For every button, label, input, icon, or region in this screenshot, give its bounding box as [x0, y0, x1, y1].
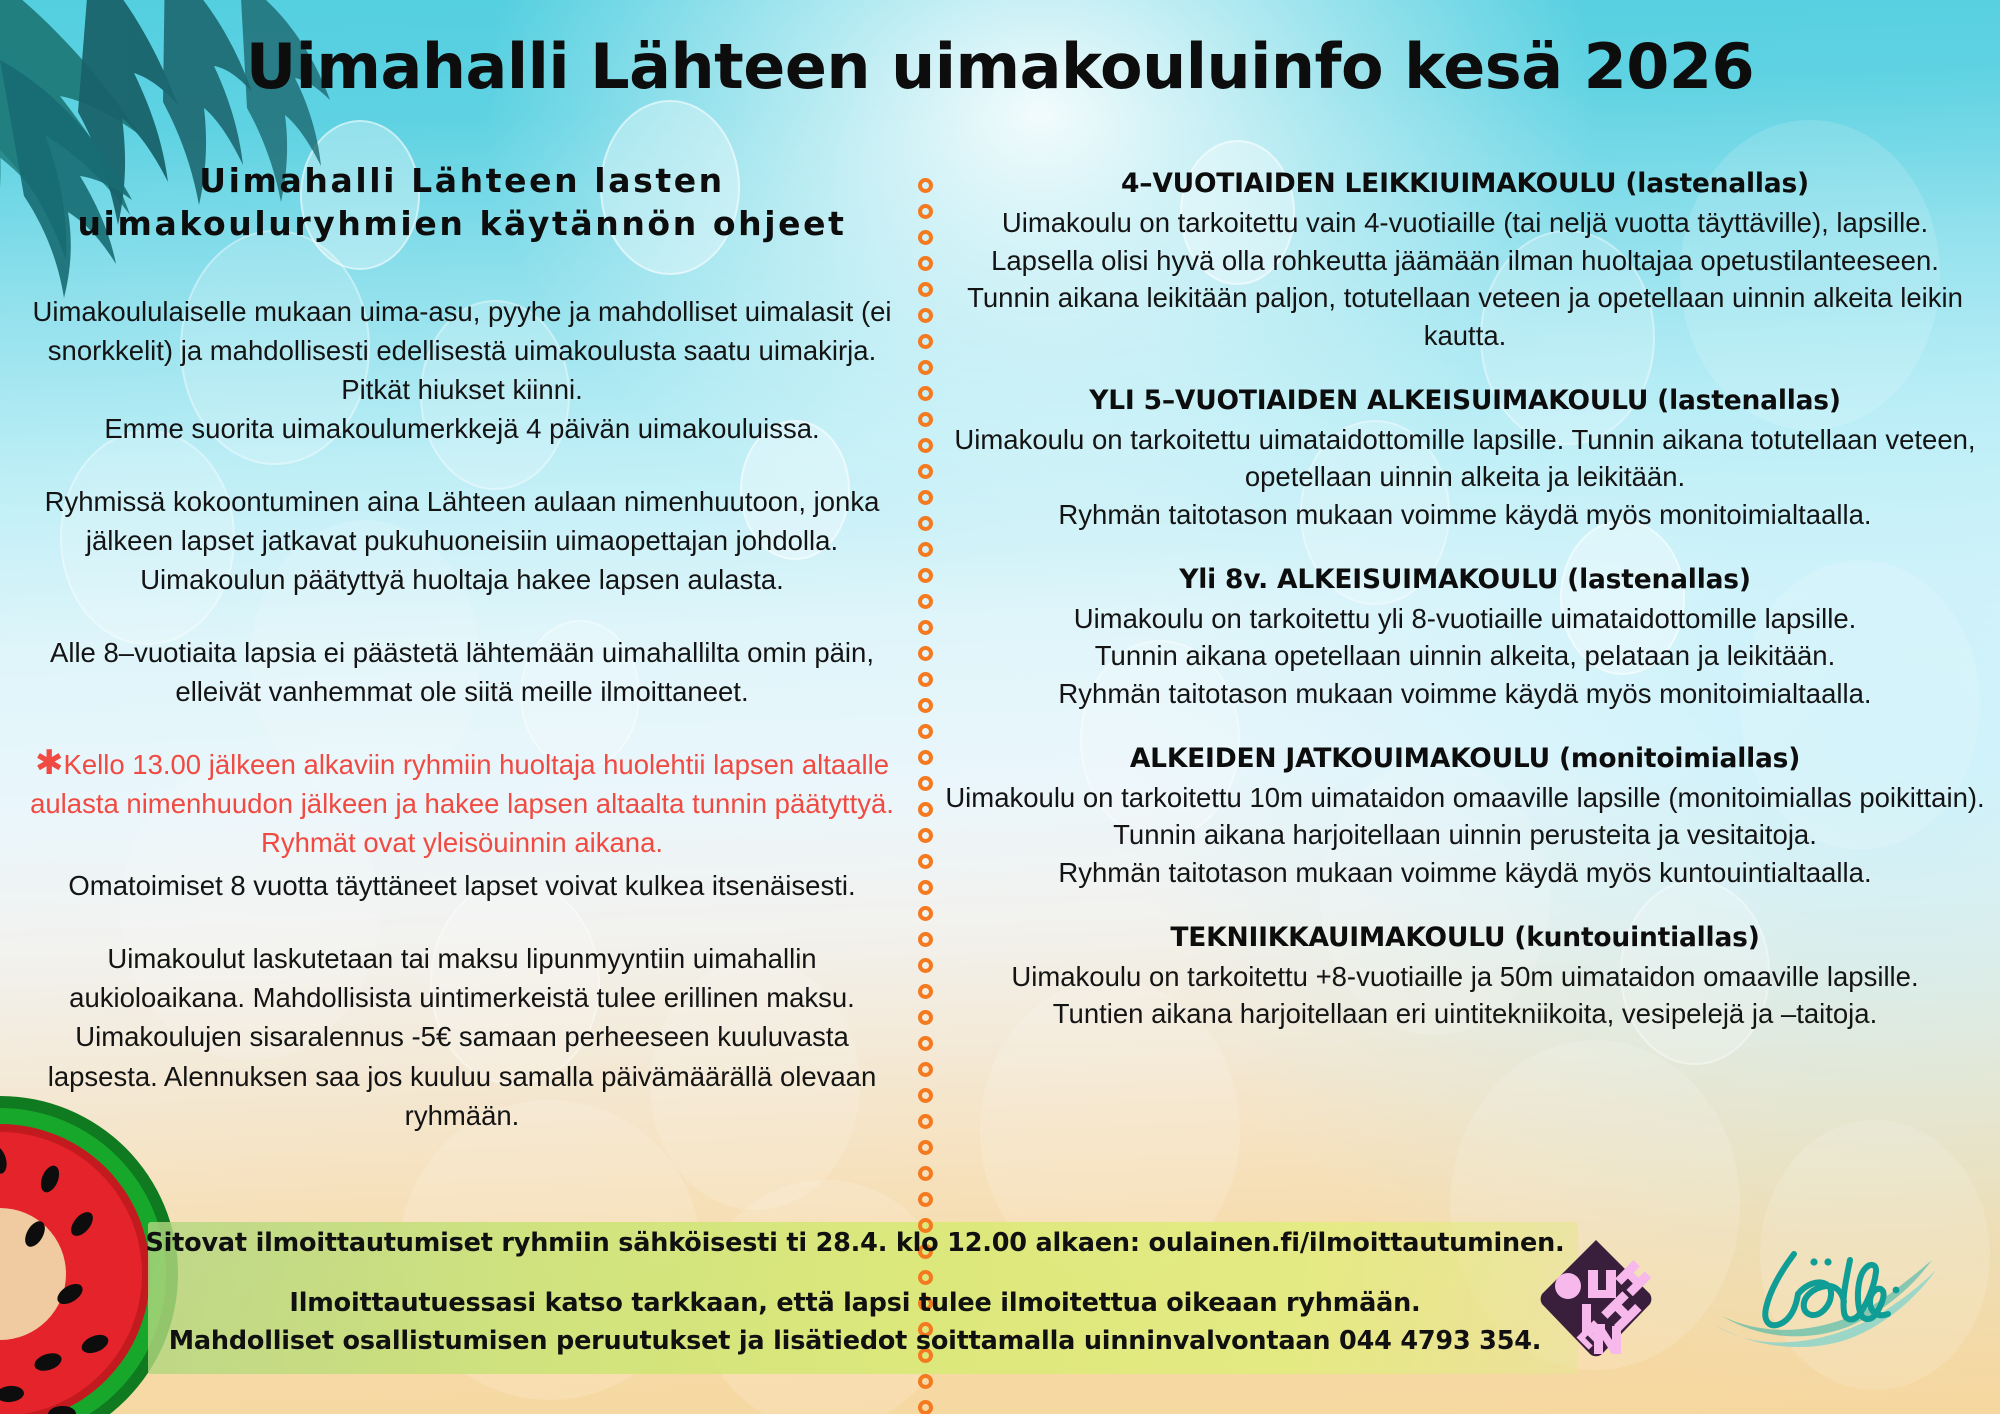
group-alkeisuimakoulu-yli-8v: Yli 8v. ALKEISUIMAKOULU (lastenallas) Ui…: [945, 564, 1985, 713]
divider-dot: [918, 568, 933, 583]
footer-contact-line: Mahdolliset osallistumisen peruutukset j…: [140, 1326, 1570, 1356]
divider-dot: [918, 438, 933, 453]
divider-dot: [918, 1166, 933, 1181]
divider-dot: [918, 178, 933, 193]
divider-dot: [918, 932, 933, 947]
divider-dot: [918, 906, 933, 921]
divider-dot: [918, 412, 933, 427]
group-alkeisuimakoulu-yli-5v: YLI 5–VUOTIAIDEN ALKEISUIMAKOULU (lasten…: [945, 385, 1985, 534]
left-column: Uimahalli Lähteen lasten uimakouluryhmie…: [12, 160, 912, 1135]
group-tekniikkauimakoulu: TEKNIIKKAUIMAKOULU (kuntouintiallas) Uim…: [945, 922, 1985, 1033]
divider-dot: [918, 594, 933, 609]
asterisk-icon: ✱: [35, 744, 64, 782]
divider-dot: [918, 776, 933, 791]
divider-dot: [918, 1114, 933, 1129]
footer-notice-line: Ilmoittautuessasi katso tarkkaan, että l…: [140, 1288, 1570, 1318]
divider-dot: [918, 984, 933, 999]
divider-dot: [918, 1192, 933, 1207]
oulainen-logo: [1532, 1234, 1660, 1362]
highlight-note-text: Kello 13.00 jälkeen alkaviin ryhmiin huo…: [30, 749, 894, 858]
group-heading: ALKEIDEN JATKOUIMAKOULU (monitoimiallas): [945, 743, 1985, 774]
divider-dot: [918, 1010, 933, 1025]
highlight-note: ✱Kello 13.00 jälkeen alkaviin ryhmiin hu…: [12, 745, 912, 862]
group-body: Uimakoulu on tarkoitettu uimataidottomil…: [945, 421, 1985, 534]
divider-dot: [918, 282, 933, 297]
divider-dot: [918, 854, 933, 869]
divider-dot: [918, 828, 933, 843]
divider-dot: [918, 646, 933, 661]
divider-dot: [918, 620, 933, 635]
divider-dot: [918, 698, 933, 713]
content-columns: Uimahalli Lähteen lasten uimakouluryhmie…: [0, 160, 2000, 1180]
group-heading: YLI 5–VUOTIAIDEN ALKEISUIMAKOULU (lasten…: [945, 385, 1985, 416]
lahde-logo: [1710, 1236, 1940, 1356]
divider-dot: [918, 1400, 933, 1414]
divider-dot: [918, 386, 933, 401]
divider-dot: [918, 672, 933, 687]
divider-dot: [918, 308, 933, 323]
divider-dot: [918, 490, 933, 505]
divider-dot: [918, 360, 933, 375]
divider-dot: [918, 1088, 933, 1103]
divider-dot: [918, 724, 933, 739]
dotted-divider: [918, 178, 934, 1178]
divider-dot: [918, 1140, 933, 1155]
divider-dot: [918, 204, 933, 219]
group-alkeiden-jatkouimakoulu: ALKEIDEN JATKOUIMAKOULU (monitoimiallas)…: [945, 743, 1985, 892]
divider-dot: [918, 750, 933, 765]
divider-dot: [918, 880, 933, 895]
divider-dot: [918, 230, 933, 245]
left-column-heading: Uimahalli Lähteen lasten uimakouluryhmie…: [22, 160, 902, 246]
divider-dot: [918, 802, 933, 817]
group-heading: TEKNIIKKAUIMAKOULU (kuntouintiallas): [945, 922, 1985, 953]
group-heading: Yli 8v. ALKEISUIMAKOULU (lastenallas): [945, 564, 1985, 595]
divider-dot: [918, 464, 933, 479]
divider-dot: [918, 1374, 933, 1389]
group-leikkiuimakoulu-4v: 4–VUOTIAIDEN LEIKKIUIMAKOULU (lastenalla…: [945, 168, 1985, 355]
group-body: Uimakoulu on tarkoitettu vain 4-vuotiail…: [945, 204, 1985, 355]
divider-dot: [918, 334, 933, 349]
footer-registration-line: Sitovat ilmoittautumiset ryhmiin sähköis…: [140, 1228, 1570, 1258]
group-heading: 4–VUOTIAIDEN LEIKKIUIMAKOULU (lastenalla…: [945, 168, 1985, 199]
divider-dot: [918, 1036, 933, 1051]
divider-dot: [918, 256, 933, 271]
paragraph-alle-8-vuotiaat: Alle 8–vuotiaita lapsia ei päästetä läht…: [12, 633, 912, 711]
paragraph-maksut: Uimakoulut laskutetaan tai maksu lipunmy…: [12, 939, 912, 1134]
paragraph-kokoontuminen: Ryhmissä kokoontuminen aina Lähteen aula…: [12, 482, 912, 599]
divider-dot: [918, 542, 933, 557]
poster-canvas: Uimahalli Lähteen uimakouluinfo kesä 202…: [0, 0, 2000, 1414]
divider-dot: [918, 958, 933, 973]
right-column: 4–VUOTIAIDEN LEIKKIUIMAKOULU (lastenalla…: [945, 168, 1985, 1033]
divider-dot: [918, 1062, 933, 1077]
footer-text-block: Sitovat ilmoittautumiset ryhmiin sähköis…: [140, 1228, 1570, 1356]
paragraph-varusteet: Uimakoululaiselle mukaan uima-asu, pyyhe…: [12, 292, 912, 448]
divider-dot: [918, 516, 933, 531]
group-body: Uimakoulu on tarkoitettu +8-vuotiaille j…: [945, 958, 1985, 1033]
page-title: Uimahalli Lähteen uimakouluinfo kesä 202…: [0, 30, 2000, 103]
group-body: Uimakoulu on tarkoitettu yli 8-vuotiaill…: [945, 600, 1985, 713]
paragraph-omatoimiset: Omatoimiset 8 vuotta täyttäneet lapset v…: [12, 866, 912, 905]
group-body: Uimakoulu on tarkoitettu 10m uimataidon …: [945, 779, 1985, 892]
